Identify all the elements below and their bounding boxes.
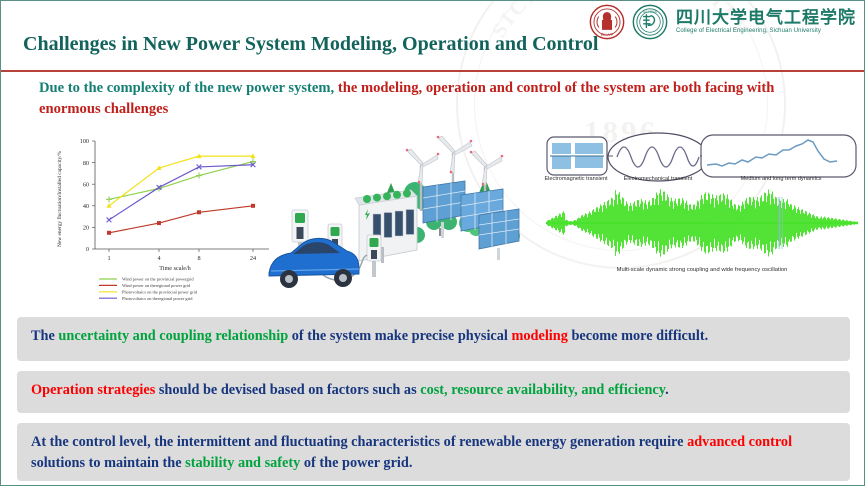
text-segment-3: . (665, 382, 669, 398)
svg-text:24: 24 (250, 255, 256, 262)
electromechanical-transient-panel (608, 133, 708, 181)
text-segment-3: stability and safety (185, 455, 300, 471)
statement-box-control: At the control level, the intermittent a… (17, 423, 850, 481)
branding-logos: 四川大学 电气工程学院 四川大学电气工程学院 College of Electr… (589, 4, 856, 40)
branding-text: 四川大学电气工程学院 College of Electrical Enginee… (676, 9, 856, 35)
statement-text-modeling: The uncertainty and coupling relationshi… (31, 326, 836, 347)
svg-text:40: 40 (83, 203, 89, 210)
solar-panels-group (423, 181, 519, 260)
text-segment-2: of the system make precise physical (288, 328, 511, 344)
text-segment-4: of the power grid. (300, 455, 412, 471)
slide-header: 四川大学 电气工程学院 四川大学电气工程学院 College of Electr… (1, 1, 864, 65)
wide-frequency-oscillation-waveform (546, 189, 858, 256)
chart-svg: 020406080100 14824 New energy fluctuatio… (47, 129, 279, 301)
svg-text:100: 100 (80, 138, 89, 145)
svg-text:Wind power on the provincial p: Wind power on the provincial powergrid (122, 277, 194, 282)
electric-car (269, 238, 359, 288)
text-segment-2: solutions to maintain the (31, 455, 185, 471)
text-segment-1: advanced control (687, 434, 792, 450)
chart-x-ticks: 14824 (107, 249, 256, 262)
svg-text:电气工程学院: 电气工程学院 (643, 9, 658, 13)
label-medium-long-term-dynamics: Medium and long term dynamics (711, 176, 851, 183)
branding-en-name: College of Electrical Engineering, Sichu… (676, 27, 856, 35)
text-segment-1: uncertainty and coupling relationship (58, 328, 288, 344)
svg-text:0: 0 (86, 246, 89, 253)
text-segment-0: At the control level, the intermittent a… (31, 434, 687, 450)
chart-y-ticks: 020406080100 (80, 138, 95, 253)
medium-long-term-panel (701, 135, 856, 177)
svg-text:80: 80 (83, 160, 89, 167)
text-segment-1: should be devised based on factors such … (155, 382, 420, 398)
battery-storage-container (355, 189, 417, 263)
label-electromechanical-transient: Electromechanical transient (619, 176, 697, 183)
svg-text:Photovoltaics on theregional p: Photovoltaics on theregional power grid (122, 296, 193, 301)
chart-y-axis-label: New energy fluctuation/Installed capacit… (56, 150, 63, 247)
title-divider (1, 70, 864, 72)
svg-text:1: 1 (107, 255, 110, 262)
svg-text:Photovoltaics on the provincia: Photovoltaics on the provincial power gr… (122, 290, 198, 295)
label-electromagnetic-transient: Electromagnetic transient (541, 176, 611, 183)
lead-paragraph: Due to the complexity of the new power s… (39, 78, 834, 120)
statement-box-operation: Operation strategies should be devised b… (17, 371, 850, 413)
text-segment-0: Operation strategies (31, 382, 155, 398)
svg-text:60: 60 (83, 181, 89, 188)
statement-text-operation: Operation strategies should be devised b… (31, 380, 836, 401)
multiscale-caption: Multi-scale dynamic strong coupling and … (541, 267, 863, 273)
multiscale-dynamics-diagram: Electromagnetic transient Electromechani… (541, 125, 863, 301)
renewable-energy-illustration (263, 123, 543, 301)
fluctuation-line-chart: 020406080100 14824 New energy fluctuatio… (47, 129, 279, 301)
text-segment-0: The (31, 328, 58, 344)
statement-text-control: At the control level, the intermittent a… (31, 432, 836, 474)
text-segment-2: cost, resource availability, and efficie… (420, 382, 665, 398)
chart-series-layer (106, 154, 256, 235)
multiscale-svg (541, 125, 863, 301)
chart-legend: Wind power on the provincial powergridWi… (99, 277, 198, 301)
branding-cn-name: 四川大学电气工程学院 (676, 9, 856, 27)
chart-x-axis-label: Time scale/h (159, 265, 191, 272)
svg-text:四川大学: 四川大学 (601, 32, 613, 37)
text-segment-4: become more difficult. (568, 328, 708, 344)
slide-canvas: SICHUAN UNIVERSITY 1896 四川大学 电气工程学院 (0, 0, 865, 486)
statement-box-modeling: The uncertainty and coupling relationshi… (17, 317, 850, 361)
svg-text:8: 8 (197, 255, 200, 262)
svg-text:Wind power on theregional powe: Wind power on theregional power grid (122, 283, 191, 288)
svg-text:4: 4 (157, 255, 160, 262)
lead-part-1: Due to the complexity of the new power s… (39, 80, 338, 96)
svg-text:20: 20 (83, 225, 89, 232)
figure-row: 020406080100 14824 New energy fluctuatio… (1, 123, 864, 301)
text-segment-3: modeling (511, 328, 567, 344)
page-title: Challenges in New Power System Modeling,… (23, 33, 598, 56)
college-seal-icon: 电气工程学院 (632, 4, 668, 40)
electromagnetic-transient-panel (547, 137, 607, 175)
illustration-svg (263, 123, 543, 301)
